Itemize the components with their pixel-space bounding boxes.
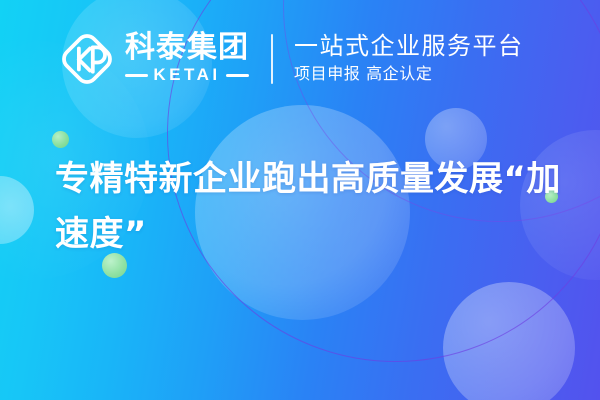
background-disc-left-edge (0, 176, 34, 244)
promo-banner: 科泰集团 KETAI 一站式企业服务平台 项目申报 高企认定 专精特新企业跑出高… (0, 0, 600, 400)
wordmark-rule-right (226, 74, 249, 77)
slogan-primary: 一站式企业服务平台 (294, 33, 524, 60)
brand-name-en: KETAI (153, 65, 220, 85)
header-divider (271, 34, 273, 84)
wordmark-rule-left (125, 74, 148, 77)
brand-name-en-row: KETAI (125, 65, 249, 85)
slogan-secondary: 项目申报 高企认定 (294, 64, 524, 85)
background-disc-lower-right (443, 282, 575, 400)
banner-header: 科泰集团 KETAI 一站式企业服务平台 项目申报 高企认定 (0, 0, 600, 118)
green-dot-upper-left (52, 131, 69, 148)
brand-wordmark: 科泰集团 KETAI (125, 33, 249, 86)
banner-headline: 专精特新企业跑出高质量发展“加速度” (55, 152, 565, 262)
brand-logo[interactable]: 科泰集团 KETAI (58, 30, 249, 88)
brand-name-cn: 科泰集团 (125, 33, 249, 64)
kp-diamond-logo-icon (58, 30, 116, 88)
header-slogan: 一站式企业服务平台 项目申报 高企认定 (294, 33, 524, 85)
